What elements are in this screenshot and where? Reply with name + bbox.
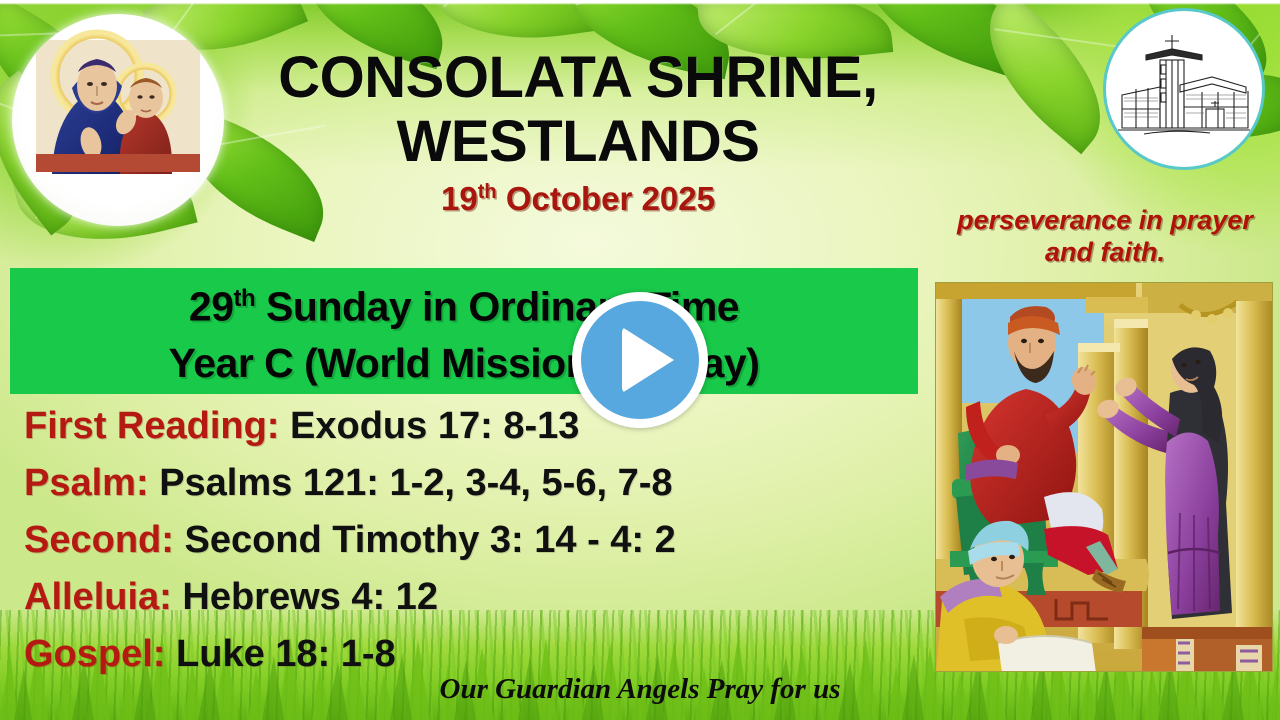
readings-list: First Reading: Exodus 17: 8-13 Psalm: Ps… (24, 398, 924, 683)
sunday-title-banner: 29th Sunday in Ordinary Time Year C (Wor… (10, 268, 918, 394)
list-item: First Reading: Exodus 17: 8-13 (24, 398, 924, 455)
list-item: Alleluia: Hebrews 4: 12 (24, 569, 924, 626)
church-logo (1103, 8, 1265, 170)
shrine-name-line-2: WESTLANDS (228, 110, 928, 174)
reading-label: Psalm: (24, 462, 149, 504)
church-line-drawing (1114, 29, 1254, 149)
service-date: 19th October 2025 (228, 180, 928, 218)
reading-label: Alleluia: (24, 576, 172, 618)
date-month-year: October 2025 (497, 180, 715, 217)
madonna-illustration (12, 14, 224, 226)
slide-canvas: CONSOLATA SHRINE, WESTLANDS 19th October… (0, 0, 1280, 720)
list-item: Second: Second Timothy 3: 14 - 4: 2 (24, 512, 924, 569)
gospel-illustration (935, 282, 1273, 672)
play-button[interactable] (572, 292, 708, 428)
reading-reference: Psalms 121: 1-2, 3-4, 5-6, 7-8 (159, 462, 672, 504)
sunday-number-ordinal: th (234, 285, 256, 312)
sunday-theme-text: perseverance in prayer and faith. (946, 204, 1264, 268)
reading-reference: Luke 18: 1-8 (176, 633, 396, 675)
list-item: Psalm: Psalms 121: 1-2, 3-4, 5-6, 7-8 (24, 455, 924, 512)
header-block: CONSOLATA SHRINE, WESTLANDS 19th October… (228, 46, 928, 218)
bottom-caption: Our Guardian Angels Pray for us (0, 673, 1280, 706)
reading-reference: Hebrews 4: 12 (182, 576, 438, 618)
reading-reference: Exodus 17: 8-13 (290, 405, 579, 447)
date-day: 19 (441, 180, 478, 217)
reading-reference: Second Timothy 3: 14 - 4: 2 (184, 519, 675, 561)
shrine-name-line-1: CONSOLATA SHRINE, (228, 46, 928, 110)
top-white-strip (0, 0, 1280, 5)
date-ordinal-suffix: th (478, 181, 497, 203)
reading-label: Gospel: (24, 633, 165, 675)
play-triangle-icon (622, 327, 674, 393)
page-title: CONSOLATA SHRINE, WESTLANDS (228, 46, 928, 174)
reading-label: Second: (24, 519, 174, 561)
sunday-number: 29 (189, 284, 234, 330)
reading-label: First Reading: (24, 405, 279, 447)
widow-and-judge-painting (936, 283, 1273, 672)
madonna-and-child-icon (12, 14, 224, 226)
